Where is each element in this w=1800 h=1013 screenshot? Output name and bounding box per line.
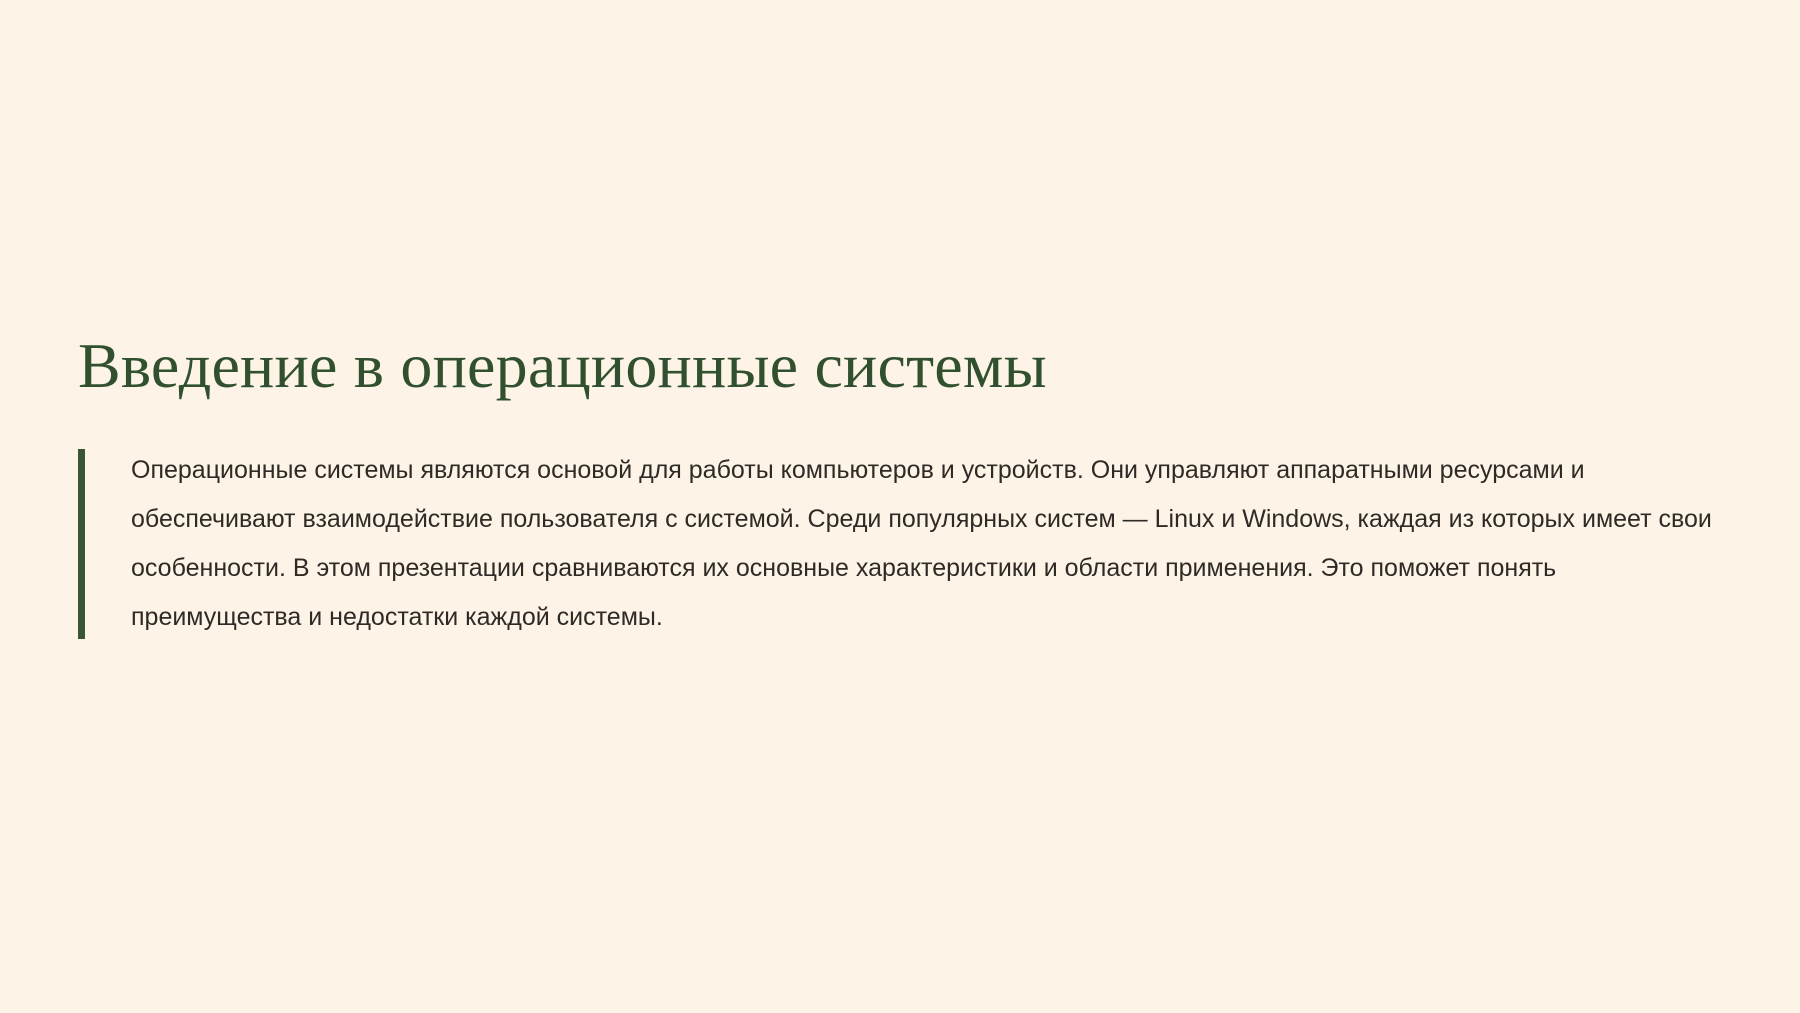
body-paragraph: Операционные системы являются основой дл… [131,446,1721,642]
accent-bar [78,449,85,639]
slide-canvas: Введение в операционные системы Операцио… [0,0,1800,1013]
slide-content-area: Введение в операционные системы Операцио… [78,330,1723,642]
body-quote-block: Операционные системы являются основой дл… [78,446,1723,642]
page-title: Введение в операционные системы [78,330,1723,402]
